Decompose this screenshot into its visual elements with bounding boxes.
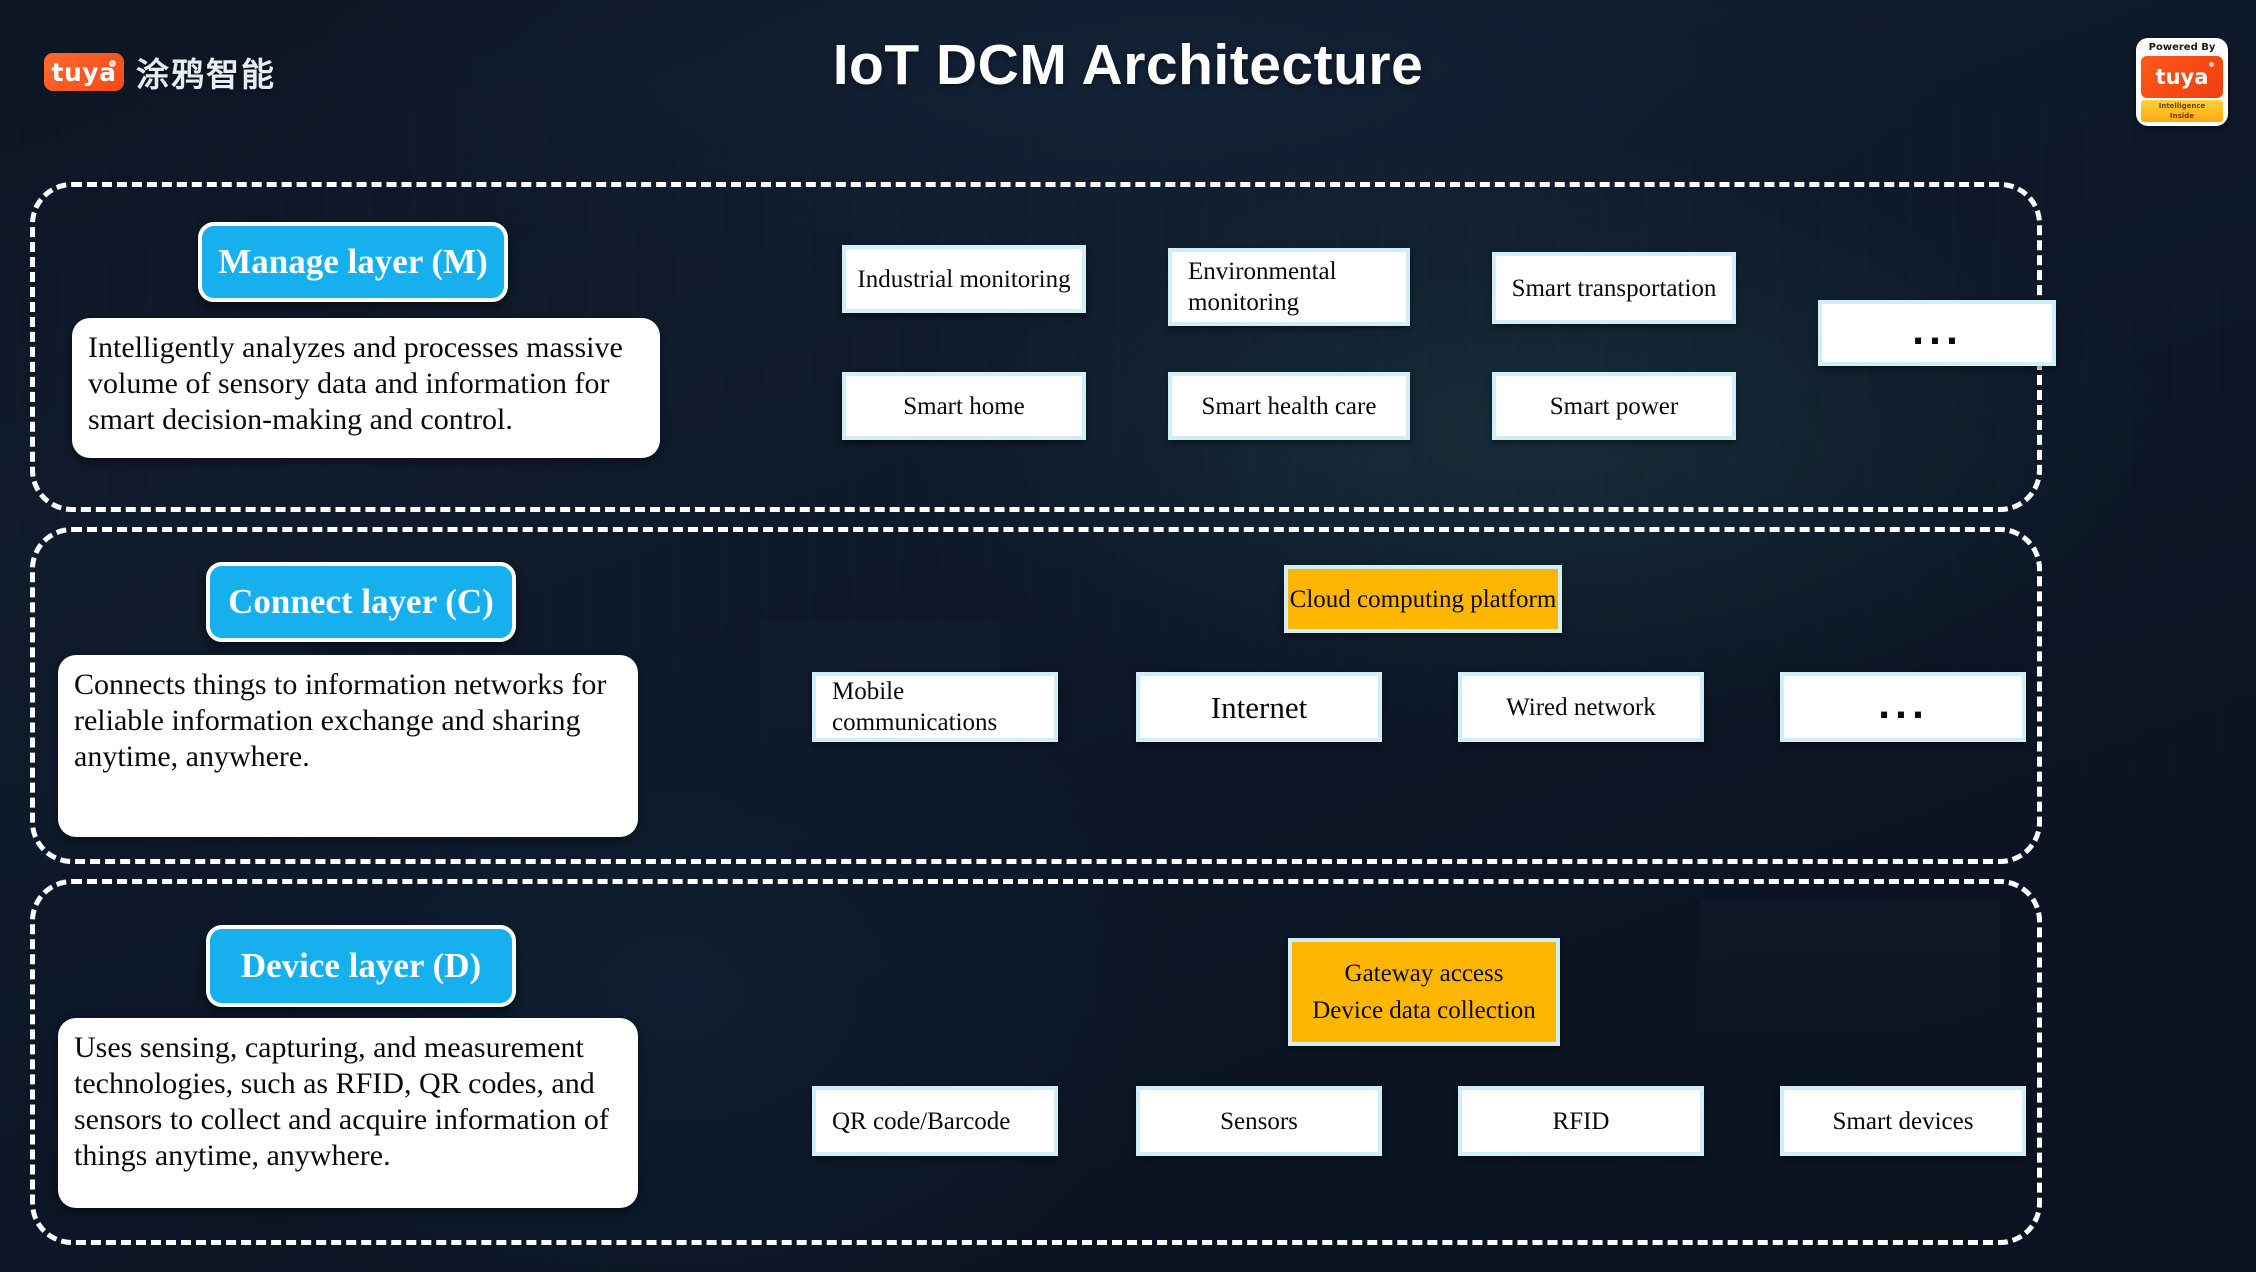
badge-tagline-line1: Intelligence [2159, 101, 2206, 111]
box-sensors[interactable]: Sensors [1136, 1086, 1382, 1156]
ellipsis-glyph: ... [1878, 690, 1929, 724]
box-smart-transportation[interactable]: Smart transportation [1492, 252, 1736, 324]
badge-tagline: Intelligence Inside [2141, 100, 2223, 122]
badge-tagline-line2: Inside [2170, 111, 2194, 121]
device-layer-tab[interactable]: Device layer (D) [206, 925, 516, 1007]
ellipsis-glyph: ... [1912, 316, 1963, 350]
box-mobile-communications[interactable]: Mobile communications [812, 672, 1058, 742]
box-internet[interactable]: Internet [1136, 672, 1382, 742]
box-smart-devices[interactable]: Smart devices [1780, 1086, 2026, 1156]
box-cloud-computing-platform[interactable]: Cloud computing platform [1284, 565, 1562, 633]
slide-canvas: tuya 涂鸦智能 IoT DCM Architecture Powered B… [0, 0, 2256, 1272]
slide-header: tuya 涂鸦智能 IoT DCM Architecture Powered B… [0, 0, 2256, 175]
badge-powered-by-label: Powered By [2141, 42, 2223, 54]
powered-by-tuya-badge: Powered By tuya Intelligence Inside [2136, 38, 2228, 126]
badge-tuya-logo: tuya [2141, 56, 2223, 98]
box-wired-network[interactable]: Wired network [1458, 672, 1704, 742]
device-layer-description: Uses sensing, capturing, and measurement… [58, 1018, 638, 1208]
manage-layer-description: Intelligently analyzes and processes mas… [72, 318, 660, 458]
box-rfid[interactable]: RFID [1458, 1086, 1704, 1156]
connect-layer-description: Connects things to information networks … [58, 655, 638, 837]
box-smart-home[interactable]: Smart home [842, 372, 1086, 440]
box-smart-health-care[interactable]: Smart health care [1168, 372, 1410, 440]
box-gateway-access[interactable]: Gateway access Device data collection [1288, 938, 1560, 1046]
box-manage-more[interactable]: ... [1818, 300, 2056, 366]
box-industrial-monitoring[interactable]: Industrial monitoring [842, 245, 1086, 313]
box-qr-code-barcode[interactable]: QR code/Barcode [812, 1086, 1058, 1156]
manage-layer-tab[interactable]: Manage layer (M) [198, 222, 508, 302]
page-title: IoT DCM Architecture [0, 32, 2256, 98]
connect-layer-tab[interactable]: Connect layer (C) [206, 562, 516, 642]
gateway-access-line1: Gateway access [1345, 958, 1504, 989]
gateway-access-line2: Device data collection [1312, 995, 1536, 1026]
box-connect-more[interactable]: ... [1780, 672, 2026, 742]
box-smart-power[interactable]: Smart power [1492, 372, 1736, 440]
box-environmental-monitoring[interactable]: Environmental monitoring [1168, 248, 1410, 326]
